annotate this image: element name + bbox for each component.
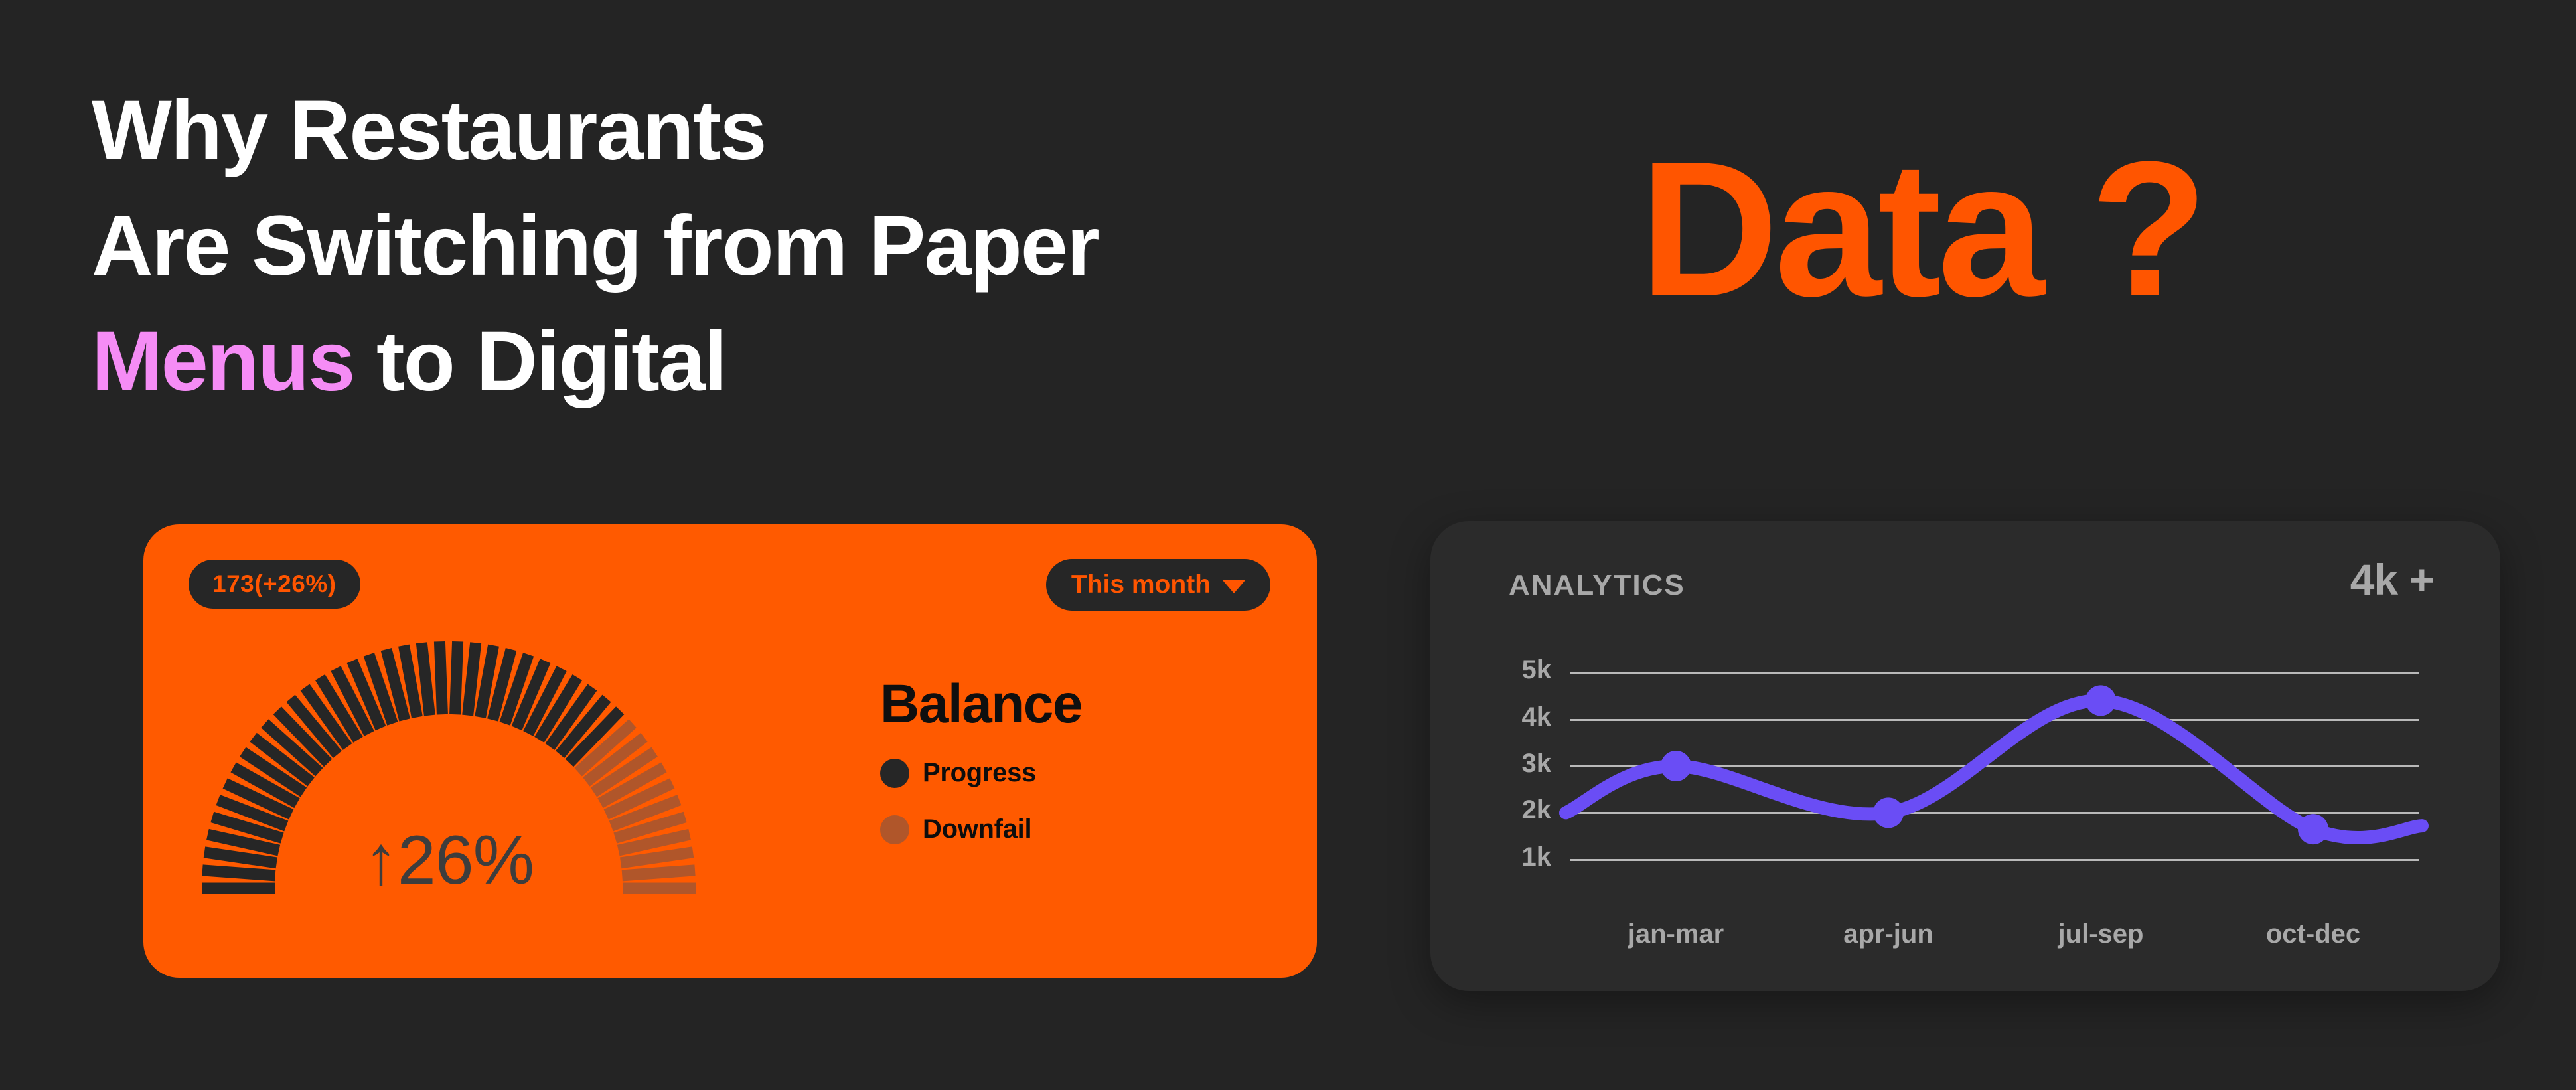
legend-dot-progress [880,759,909,788]
period-selector-label: This month [1071,570,1211,599]
balance-gauge: ↑26% [183,603,714,935]
period-selector-button[interactable]: This month [1046,559,1270,611]
headline-line-2: Are Switching from Paper [92,189,1099,304]
chart-data-point[interactable] [1873,797,1904,828]
legend-label-downfail: Downfail [923,815,1031,844]
analytics-card: ANALYTICS 4k + 5k4k3k2k1kjan-marapr-junj… [1430,521,2500,991]
poster-canvas: Why Restaurants Are Switching from Paper… [0,0,2576,1090]
legend-dot-downfail [880,815,909,844]
chart-data-point[interactable] [1661,751,1691,781]
chart-line-series [1566,700,2422,838]
data-question-heading: Data ? [1639,133,2204,325]
gauge-tick-progress [468,643,476,715]
gauge-tick-progress [455,641,458,714]
legend-label-progress: Progress [923,758,1036,788]
balance-title: Balance [880,677,1082,732]
status-badge: 173(+26%) [189,560,360,609]
headline-accent-word: Menus [92,314,354,409]
legend-item-progress: Progress [880,758,1082,788]
page-title: Why Restaurants Are Switching from Paper… [92,73,1099,420]
analytics-line-chart: 5k4k3k2k1kjan-marapr-junjul-sepoct-dec [1430,521,2500,991]
legend-item-downfail: Downfail [880,815,1082,844]
headline-line-3: Menus to Digital [92,304,1099,420]
balance-card: 173(+26%) This month ↑26% Balance Progre… [143,524,1317,978]
chart-series-svg [1430,521,2500,991]
gauge-value-text: ↑26% [183,821,714,900]
headline-line-3-rest: to Digital [354,314,726,409]
chart-data-point[interactable] [2085,685,2116,716]
gauge-tick-progress [421,643,429,715]
chart-data-point[interactable] [2298,814,2328,844]
gauge-tick-progress [439,641,442,714]
chevron-down-icon [1223,580,1245,593]
headline-line-1: Why Restaurants [92,73,1099,189]
balance-info: Balance Progress Downfail [880,677,1082,844]
